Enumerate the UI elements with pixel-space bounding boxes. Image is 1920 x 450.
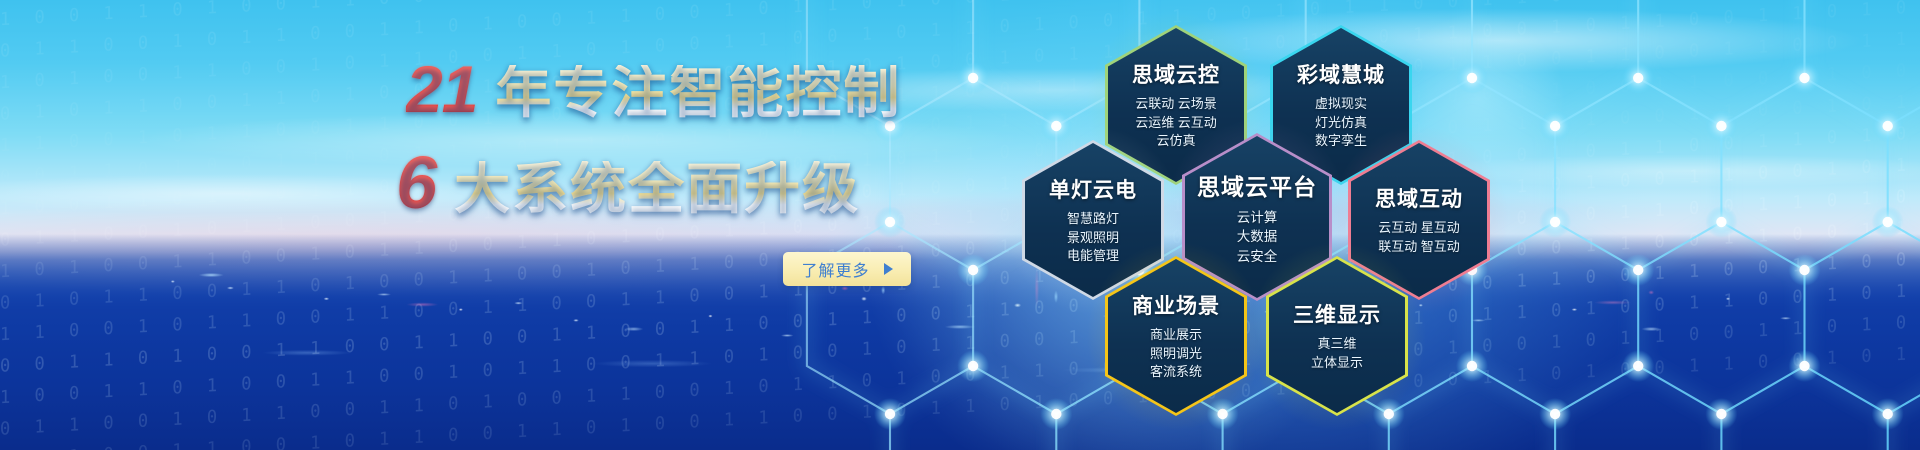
hex-subtitle-line: 云联动 云场景	[1132, 95, 1220, 114]
hex-content: 思域互动云互动 星互动联互动 智互动	[1367, 183, 1471, 257]
hex-title: 思域云控	[1132, 59, 1220, 89]
hex-subtitle-line: 景观照明	[1049, 229, 1137, 248]
hex-title: 三维显示	[1293, 299, 1381, 329]
hex-subtitle-line: 云互动 星互动	[1375, 219, 1463, 238]
hex-card-three-dimensional-display[interactable]: 三维显示真三维立体显示	[1266, 256, 1408, 416]
hex-subtitle-line: 立体显示	[1293, 354, 1381, 373]
hex-title: 思域云平台	[1197, 168, 1317, 202]
hex-subtitle-line: 灯光仿真	[1297, 114, 1385, 133]
hex-subtitle-line: 云安全	[1197, 247, 1317, 267]
hex-content: 三维显示真三维立体显示	[1285, 299, 1389, 373]
hex-subtitle-line: 大数据	[1197, 227, 1317, 247]
hex-title: 单灯云电	[1049, 174, 1137, 204]
promo-banner: 1 0 0 1 1 0 1 0 0 1 1 0 0 1 0 1 1 0 0 1 …	[0, 0, 1920, 450]
hex-subtitle-line: 联互动 智互动	[1375, 238, 1463, 257]
hex-subtitle-line: 电能管理	[1049, 247, 1137, 266]
hex-content: 商业场景商业展示照明调光客流系统	[1124, 290, 1228, 383]
hex-subtitle-line: 照明调光	[1132, 345, 1220, 364]
hex-card-commercial-scene[interactable]: 商业场景商业展示照明调光客流系统	[1105, 256, 1247, 416]
hex-content: 思域云平台云计算大数据云安全	[1189, 168, 1325, 267]
hex-subtitle-list: 商业展示照明调光客流系统	[1132, 326, 1220, 383]
hex-subtitle-list: 云互动 星互动联互动 智互动	[1375, 219, 1463, 257]
hex-title: 思域互动	[1375, 183, 1463, 213]
hexagon-card-group: 思域云控云联动 云场景云运维 云互动云仿真彩域慧城虚拟现实灯光仿真数字孪生单灯云…	[0, 0, 1920, 450]
hex-subtitle-list: 智慧路灯景观照明电能管理	[1049, 210, 1137, 267]
hex-subtitle-line: 云仿真	[1132, 132, 1220, 151]
hex-subtitle-list: 虚拟现实灯光仿真数字孪生	[1297, 95, 1385, 152]
hex-subtitle-line: 云运维 云互动	[1132, 114, 1220, 133]
hex-subtitle-line: 商业展示	[1132, 326, 1220, 345]
hex-subtitle-line: 数字孪生	[1297, 132, 1385, 151]
hex-subtitle-list: 云联动 云场景云运维 云互动云仿真	[1132, 95, 1220, 152]
hex-title: 商业场景	[1132, 290, 1220, 320]
hex-content: 思域云控云联动 云场景云运维 云互动云仿真	[1124, 59, 1228, 152]
hex-content: 彩域慧城虚拟现实灯光仿真数字孪生	[1289, 59, 1393, 152]
hex-subtitle-line: 云计算	[1197, 208, 1317, 228]
hex-subtitle-list: 云计算大数据云安全	[1197, 208, 1317, 267]
hex-content: 单灯云电智慧路灯景观照明电能管理	[1041, 174, 1145, 267]
hex-subtitle-line: 真三维	[1293, 335, 1381, 354]
hex-subtitle-line: 虚拟现实	[1297, 95, 1385, 114]
hex-subtitle-line: 智慧路灯	[1049, 210, 1137, 229]
hex-subtitle-line: 客流系统	[1132, 363, 1220, 382]
hex-title: 彩域慧城	[1297, 59, 1385, 89]
hex-subtitle-list: 真三维立体显示	[1293, 335, 1381, 373]
